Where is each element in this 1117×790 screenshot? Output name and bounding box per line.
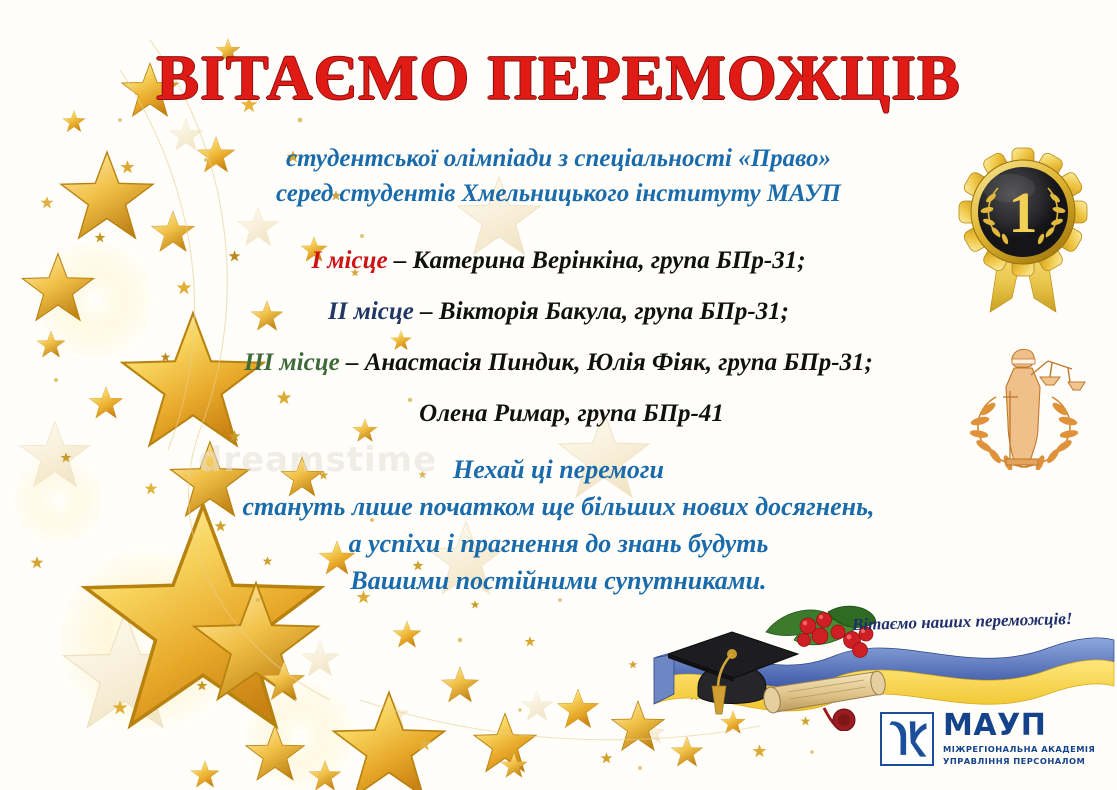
winner-row: I місце – Катерина Верінкіна, група БПр-… [0, 248, 1117, 273]
place-label-1: I місце [311, 247, 387, 274]
maup-monogram-icon [882, 714, 932, 764]
dash-2: – [414, 298, 439, 325]
message-line-2: стануть лише початком ще більших нових д… [0, 489, 1117, 526]
dash-1: – [388, 247, 413, 274]
subtitle-line-1: студентської олімпіади з спеціальності «… [0, 142, 1117, 177]
maup-logo-mark [880, 712, 934, 766]
maup-logo-subtitle-line-1: МІЖРЕГІОНАЛЬНА АКАДЕМІЯ [943, 744, 1095, 755]
page-title: ВІТАЄМО ПЕРЕМОЖЦІВ [0, 46, 1117, 110]
winner-names-1: Катерина Верінкіна, група БПр-31; [413, 247, 806, 274]
message-line-4: Вашими постійними супутниками. [0, 563, 1117, 600]
maup-logo-subtitle: МІЖРЕГІОНАЛЬНА АКАДЕМІЯ УПРАВЛІННЯ ПЕРСО… [943, 744, 1095, 766]
maup-logo-name: МАУП [943, 711, 1095, 741]
rosette-svg: 1 [952, 140, 1094, 315]
closing-message: Нехай ці перемоги стануть лише початком … [0, 452, 1117, 600]
place-label-3: III місце [244, 349, 340, 376]
maup-logo-text: МАУП МІЖРЕГІОНАЛЬНА АКАДЕМІЯ УПРАВЛІННЯ … [943, 711, 1095, 766]
dash-3: – [340, 349, 365, 376]
poster-canvas: dreamstime ВІТАЄМО ПЕРЕМОЖЦІВ студентськ… [0, 0, 1117, 790]
lady-justice-emblem [948, 335, 1100, 470]
gold-medal-rosette: 1 [952, 140, 1094, 315]
message-line-3: а успіхи і прагнення до знань будуть [0, 526, 1117, 563]
maup-logo: МАУП МІЖРЕГІОНАЛЬНА АКАДЕМІЯ УПРАВЛІННЯ … [880, 706, 1102, 772]
winner-names-2: Вікторія Бакула, група БПр-31; [439, 298, 789, 325]
winner-row: II місце – Вікторія Бакула, група БПр-31… [0, 299, 1117, 324]
maup-logo-subtitle-line-2: УПРАВЛІННЯ ПЕРСОНАЛОМ [943, 756, 1095, 767]
winner-names-3: Анастасія Пиндик, Юлія Фіяк, група БПр-3… [365, 349, 873, 376]
place-label-2: II місце [328, 298, 414, 325]
themis-svg [948, 335, 1100, 470]
subtitle-line-2: серед студентів Хмельницького інституту … [0, 177, 1117, 212]
subtitle: студентської олімпіади з спеціальності «… [0, 142, 1117, 211]
medal-number: 1 [1009, 180, 1038, 245]
